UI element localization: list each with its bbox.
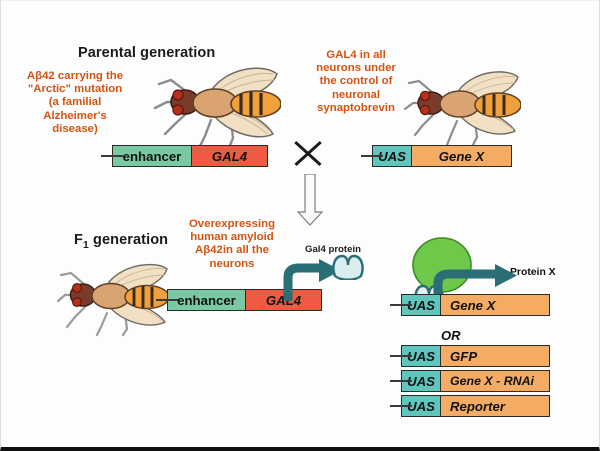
segment-gene-x: Gene X xyxy=(440,295,549,315)
construct-lead-right xyxy=(401,304,412,306)
construct-lead-left xyxy=(101,155,112,157)
segment-enhancer: enhancer xyxy=(113,146,191,166)
segment-gfp: GFP xyxy=(440,346,549,366)
construct-lead-left xyxy=(390,355,401,357)
construct-lead-right xyxy=(112,155,123,157)
fruit-fly-icon-parental-left xyxy=(153,58,281,150)
fruit-fly-icon-f1 xyxy=(57,257,169,337)
construct-lead-right xyxy=(167,299,178,301)
hollow-down-arrow-icon xyxy=(295,174,325,231)
construct-bar: UAS Gene X xyxy=(401,294,550,316)
construct-lead-left xyxy=(390,405,401,407)
protein-x-label: Protein X xyxy=(510,267,556,278)
segment-enhancer: enhancer xyxy=(168,290,245,310)
segment-reporter: Reporter xyxy=(440,396,549,416)
construct-lead-left xyxy=(390,380,401,382)
construct-lead-left xyxy=(390,304,401,306)
fruit-fly-icon-parental-right xyxy=(403,63,521,147)
segment-gene-x: Gene X xyxy=(411,146,511,166)
construct-bar: enhancer GAL4 xyxy=(112,145,268,167)
annotation-right-parent: GAL4 in all neurons under the control of… xyxy=(295,49,417,115)
annotation-f1-effect: Overexpressing human amyloid Aβ42in all … xyxy=(171,218,293,271)
construct-lead-left xyxy=(156,299,167,301)
construct-bar: enhancer GAL4 xyxy=(167,289,322,311)
or-label: OR xyxy=(441,328,461,343)
gal4-protein-icon xyxy=(331,254,365,285)
segment-gal4: GAL4 xyxy=(191,146,267,166)
construct-lead-right xyxy=(401,380,412,382)
construct-lead-right xyxy=(372,155,383,157)
annotation-left-parent: Aβ42 carrying the "Arctic" mutation (a f… xyxy=(13,70,137,136)
f1-prefix: F xyxy=(74,232,83,248)
f1-suffix: generation xyxy=(89,232,168,248)
genetic-cross-icon xyxy=(293,138,323,168)
segment-gal4: GAL4 xyxy=(245,290,321,310)
construct-bar: UAS Gene X - RNAi xyxy=(401,370,550,392)
construct-lead-right xyxy=(401,405,412,407)
construct-bar: UAS Gene X xyxy=(372,145,512,167)
construct-bar: UAS Reporter xyxy=(401,395,550,417)
construct-lead-left xyxy=(361,155,372,157)
figure-canvas: Parental generation F1 generation Aβ42 c… xyxy=(0,0,600,451)
segment-gene-x-rnai: Gene X - RNAi xyxy=(440,371,549,391)
construct-bar: UAS GFP xyxy=(401,345,550,367)
construct-lead-right xyxy=(401,355,412,357)
page-title-f1-generation: F1 generation xyxy=(74,232,168,251)
